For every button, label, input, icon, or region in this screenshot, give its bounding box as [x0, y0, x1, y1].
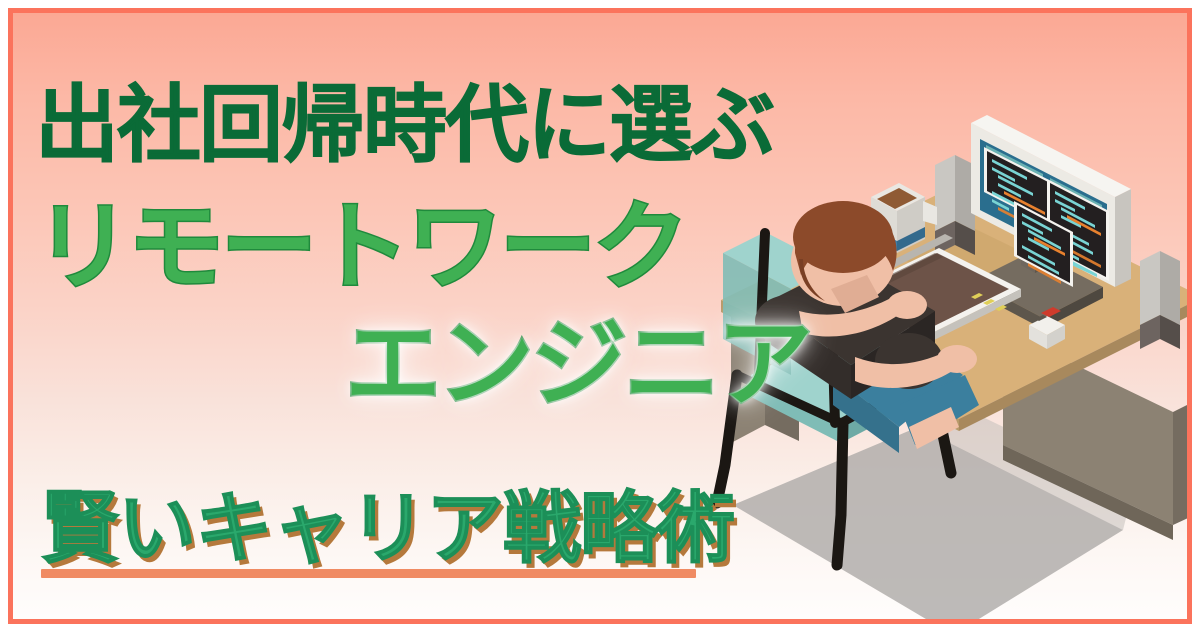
subhead-underline: [41, 569, 696, 578]
headline-text-layer: 出社回帰時代に選ぶ リモートワーク エンジニア 賢いキャリア戦略術: [13, 13, 1187, 619]
thumbnail-canvas: 出社回帰時代に選ぶ リモートワーク エンジニア 賢いキャリア戦略術: [0, 0, 1200, 632]
coral-frame-border: 出社回帰時代に選ぶ リモートワーク エンジニア 賢いキャリア戦略術: [8, 8, 1192, 624]
headline-line-2: リモートワーク: [35, 199, 686, 295]
headline-line-3: エンジニア: [345, 316, 810, 412]
headline-line-1: 出社回帰時代に選ぶ: [35, 83, 773, 167]
subhead-text: 賢いキャリア戦略術: [41, 490, 734, 568]
